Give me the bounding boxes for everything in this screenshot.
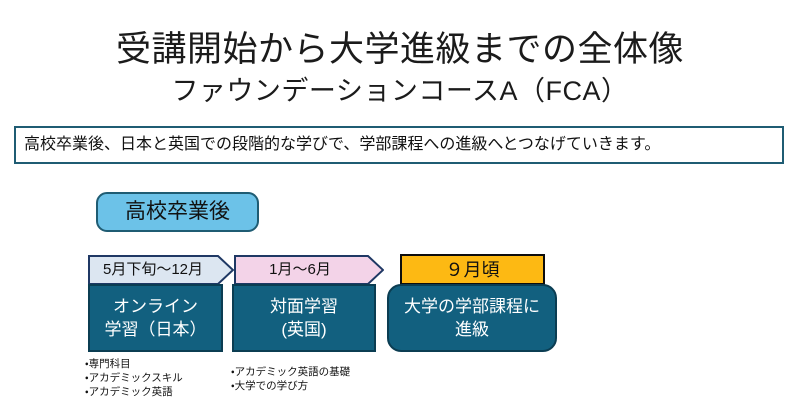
bullet-item: ・専門科目 — [85, 357, 183, 371]
lead-description-box: 高校卒業後、日本と英国での段階的な学びで、学部課程への進級へとつなげていきます。 — [14, 126, 784, 164]
period-chevron-2: 1月〜6月 — [234, 255, 384, 285]
bullet-item: ・アカデミック英語の基礎 — [231, 365, 350, 379]
period-rectangle-3: ９月頃 — [400, 254, 545, 285]
bullet-item: ・大学での学び方 — [231, 379, 350, 393]
bullet-item: ・アカデミック英語 — [85, 385, 183, 399]
stage-box-onsite-uk: 対面学習 (英国) — [232, 284, 376, 352]
period-label-2: 1月〜6月 — [269, 261, 331, 279]
bullet-list-2: ・アカデミック英語の基礎 ・大学での学び方 — [231, 365, 350, 393]
bullet-item: ・アカデミックスキル — [85, 371, 183, 385]
slide-canvas: 受講開始から大学進級までの全体像 ファウンデーションコースA（FCA） 高校卒業… — [0, 0, 800, 415]
stage-box-online-japan: オンライン 学習（日本） — [88, 284, 223, 352]
stage-pill-label: 高校卒業後 — [125, 200, 230, 224]
page-subtitle: ファウンデーションコースA（FCA） — [0, 74, 800, 108]
lead-description-text: 高校卒業後、日本と英国での段階的な学びで、学部課程への進級へとつなげていきます。 — [16, 135, 660, 155]
stage-box-university-progression: 大学の学部課程に 進級 — [387, 284, 557, 352]
period-label-3: ９月頃 — [446, 259, 500, 281]
period-label-1: 5月下旬〜12月 — [103, 261, 203, 279]
stage-box-label: 対面学習 (英国) — [270, 295, 338, 341]
stage-pill-after-highschool: 高校卒業後 — [96, 192, 259, 232]
stage-box-label: 大学の学部課程に 進級 — [404, 295, 540, 341]
period-chevron-1: 5月下旬〜12月 — [88, 255, 234, 285]
bullet-list-1: ・専門科目 ・アカデミックスキル ・アカデミック英語 — [85, 357, 183, 399]
stage-box-label: オンライン 学習（日本） — [105, 295, 207, 341]
title-block: 受講開始から大学進級までの全体像 ファウンデーションコースA（FCA） — [0, 28, 800, 108]
page-title: 受講開始から大学進級までの全体像 — [0, 28, 800, 72]
